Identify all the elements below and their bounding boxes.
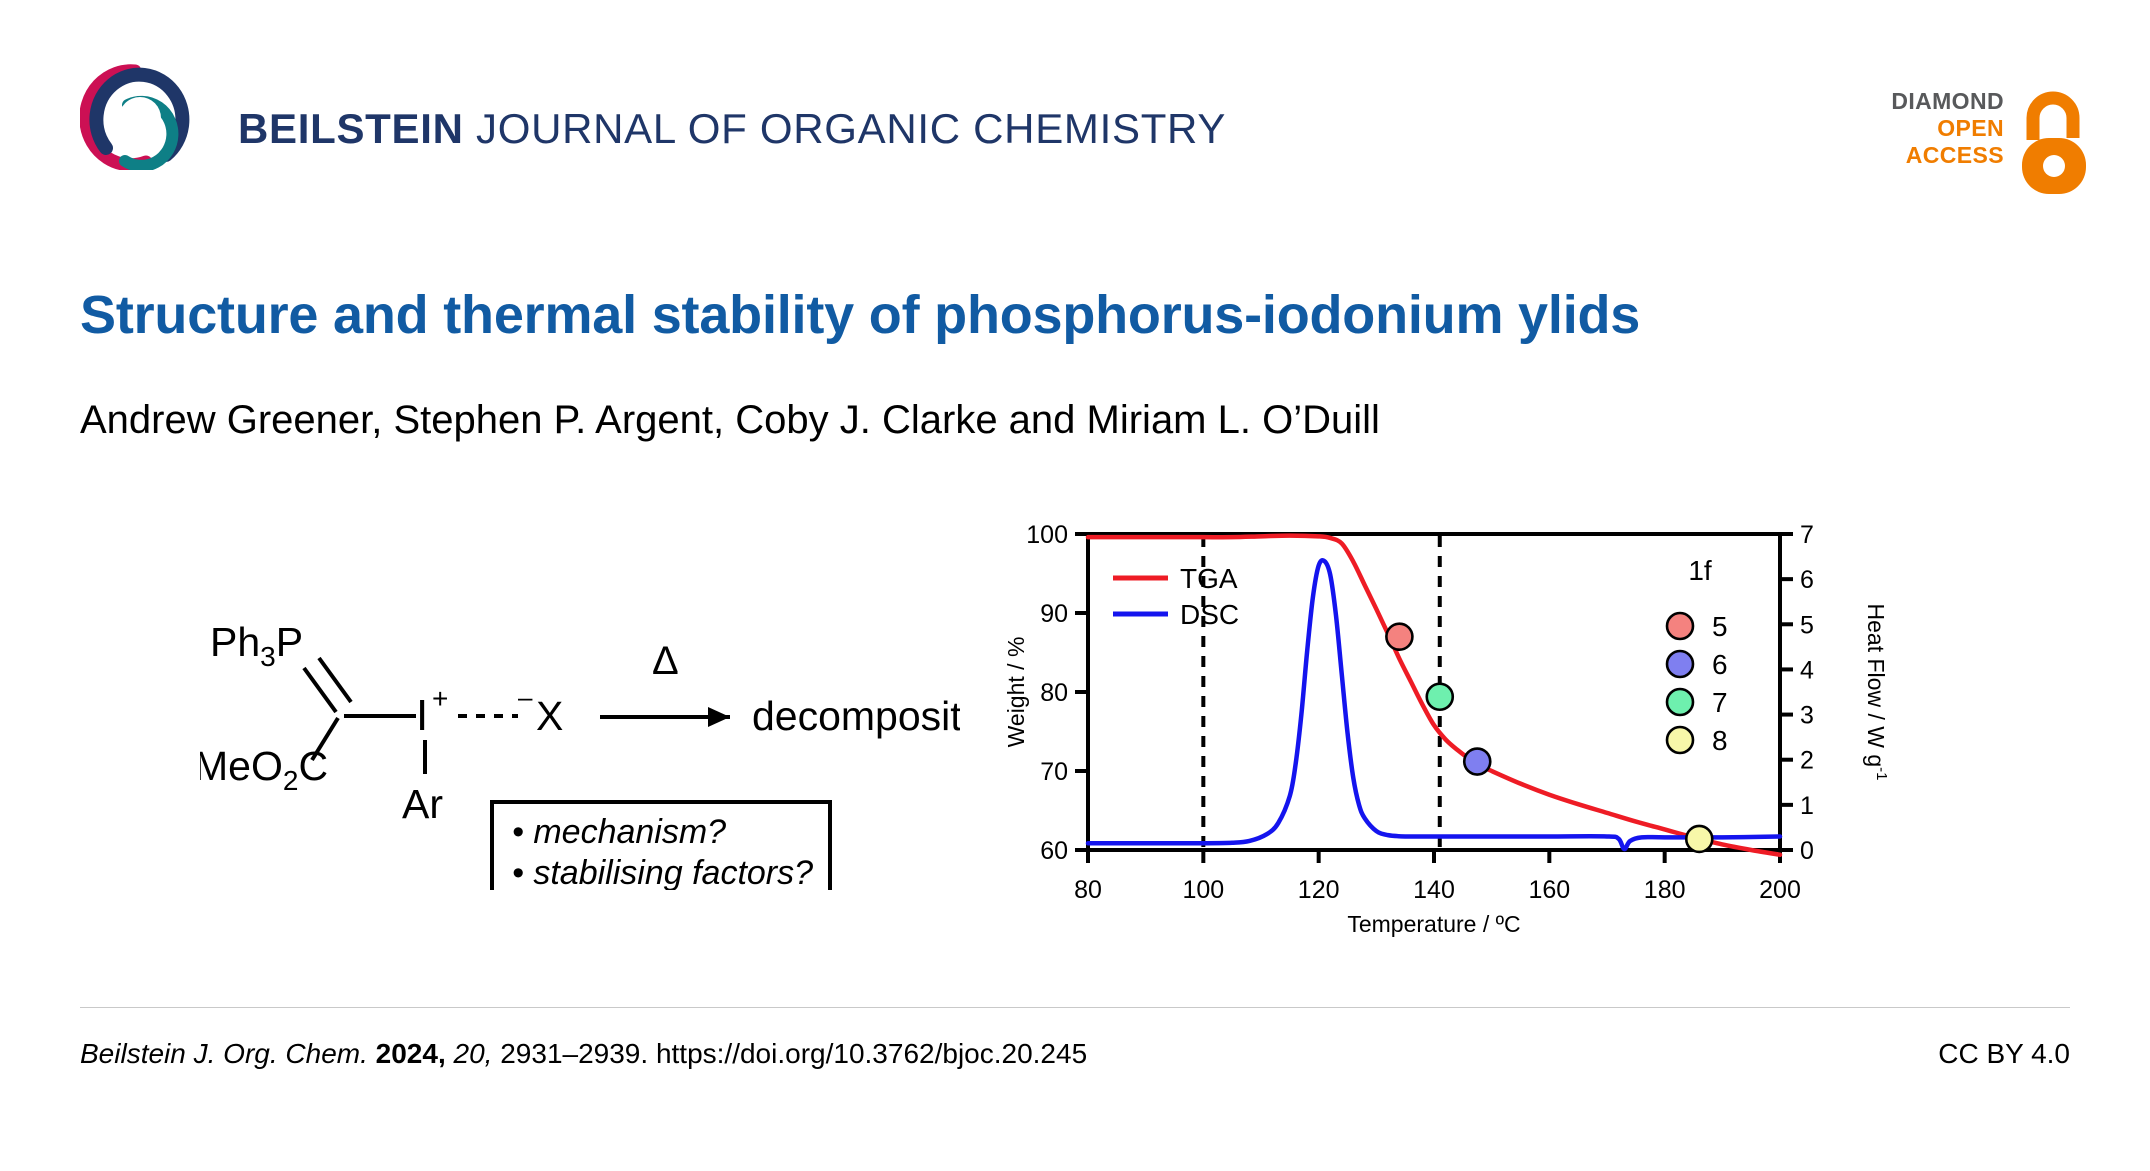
scheme-question-2: • stabilising factors? <box>512 854 813 890</box>
scheme-label-product: decomposition <box>752 693 960 739</box>
oa-diamond-label: DIAMOND <box>1891 88 2004 115</box>
scheme-label-ph3p: Ph3P <box>210 619 303 672</box>
journal-title-rest: JOURNAL OF ORGANIC CHEMISTRY <box>464 105 1226 152</box>
y-tick-label-right: 4 <box>1800 656 1814 684</box>
journal-masthead: BEILSTEIN JOURNAL OF ORGANIC CHEMISTRY D… <box>0 0 2150 215</box>
scheme-label-x: X <box>536 693 563 739</box>
y-tick-label-right: 6 <box>1800 566 1814 594</box>
journal-title-bold: BEILSTEIN <box>238 105 464 152</box>
legend-label-tga: TGA <box>1180 563 1238 594</box>
tga-dsc-chart: 80100120140160180200Temperature / ºC6070… <box>1000 520 1920 940</box>
footer-divider <box>80 1007 2070 1008</box>
y-tick-label-left: 80 <box>1040 679 1068 707</box>
legend-label-dsc: DSC <box>1180 599 1239 630</box>
citation-volume: 20, <box>454 1038 493 1069</box>
scheme-label-x-charge: – <box>518 682 533 712</box>
data-marker-7[interactable] <box>1427 684 1453 710</box>
y-tick-label-right: 7 <box>1800 521 1814 549</box>
data-marker-5[interactable] <box>1386 624 1412 650</box>
data-marker-6[interactable] <box>1464 749 1490 775</box>
marker-legend-dot-5 <box>1667 613 1693 639</box>
reaction-scheme: Ph3P MeO2C I + – X Ar Δ <box>200 590 960 890</box>
license-label: CC BY 4.0 <box>1938 1038 2070 1070</box>
y-tick-label-left: 100 <box>1026 521 1068 549</box>
x-axis-label: Temperature / ºC <box>1347 911 1520 937</box>
open-access-badge: DIAMOND OPEN ACCESS <box>1857 88 2092 206</box>
marker-legend-label-8: 8 <box>1712 725 1728 756</box>
article-title: Structure and thermal stability of phosp… <box>80 285 2080 345</box>
x-tick-label: 80 <box>1074 876 1102 904</box>
y-axis-label-left: Weight / % <box>1003 637 1029 748</box>
citation-line: Beilstein J. Org. Chem. 2024, 20, 2931–2… <box>80 1038 1087 1070</box>
scheme-label-iodine-charge: + <box>432 683 448 714</box>
oa-open-label: OPEN <box>1891 115 2004 142</box>
y-tick-label-left: 70 <box>1040 758 1068 786</box>
scheme-label-delta: Δ <box>652 639 679 683</box>
x-tick-label: 120 <box>1298 876 1340 904</box>
article-authors: Andrew Greener, Stephen P. Argent, Coby … <box>80 398 2080 443</box>
open-access-text: DIAMOND OPEN ACCESS <box>1891 88 2004 169</box>
marker-legend-label-7: 7 <box>1712 687 1728 718</box>
scheme-label-iodine: I <box>416 691 428 740</box>
scheme-label-meo2c: MeO2C <box>200 743 328 796</box>
y-axis-label-right: Heat Flow / W g-1 <box>1863 604 1890 781</box>
scheme-question-1: • mechanism? <box>512 813 726 851</box>
data-marker-8[interactable] <box>1686 826 1712 852</box>
y-tick-label-right: 1 <box>1800 792 1814 820</box>
citation-journal: Beilstein J. Org. Chem. <box>80 1038 368 1069</box>
y-tick-label-right: 5 <box>1800 611 1814 639</box>
citation-year: 2024, <box>376 1038 446 1069</box>
marker-legend-dot-8 <box>1667 727 1693 753</box>
marker-legend-dot-6 <box>1667 651 1693 677</box>
x-tick-label: 100 <box>1182 876 1224 904</box>
marker-legend-dot-7 <box>1667 689 1693 715</box>
open-padlock-icon <box>2016 90 2092 196</box>
x-tick-label: 180 <box>1644 876 1686 904</box>
x-tick-label: 140 <box>1413 876 1455 904</box>
marker-legend-title: 1f <box>1688 555 1712 586</box>
x-tick-label: 200 <box>1759 876 1801 904</box>
y-tick-label-left: 60 <box>1040 837 1068 865</box>
x-tick-label: 160 <box>1528 876 1570 904</box>
marker-legend-label-6: 6 <box>1712 649 1728 680</box>
beilstein-circles-logo <box>80 62 200 170</box>
marker-legend-label-5: 5 <box>1712 611 1728 642</box>
y-tick-label-right: 0 <box>1800 837 1814 865</box>
scheme-label-ar: Ar <box>402 781 443 827</box>
y-tick-label-left: 90 <box>1040 600 1068 628</box>
y-tick-label-right: 2 <box>1800 747 1814 775</box>
y-tick-label-right: 3 <box>1800 702 1814 730</box>
oa-access-label: ACCESS <box>1891 142 2004 169</box>
journal-title: BEILSTEIN JOURNAL OF ORGANIC CHEMISTRY <box>238 105 1226 153</box>
citation-pages-doi: 2931–2939. https://doi.org/10.3762/bjoc.… <box>492 1038 1087 1069</box>
